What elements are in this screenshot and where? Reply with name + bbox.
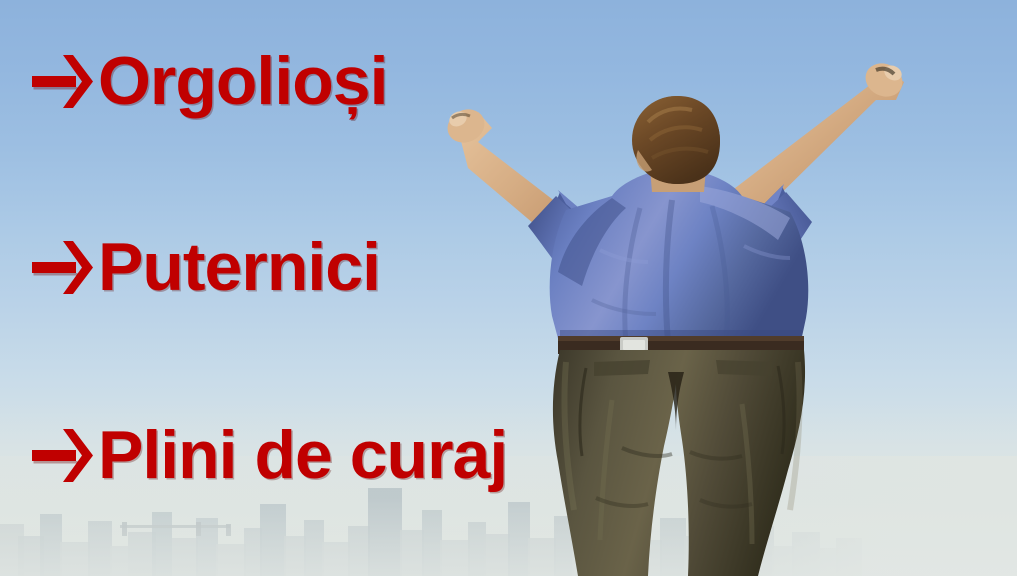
- rightwards-arrow-icon: [30, 48, 96, 114]
- rightwards-arrow-icon: [30, 234, 96, 300]
- rightwards-arrow-icon: [30, 422, 96, 488]
- bullet-item-3: Plini de curaj: [30, 416, 507, 494]
- bullet-item-1: Orgolioși: [30, 42, 387, 120]
- slide-canvas: Orgolioși Puternici: [0, 0, 1017, 576]
- bullet-label-2: Puternici: [98, 228, 380, 306]
- bullet-label-1: Orgolioși: [98, 42, 387, 120]
- bullet-label-3: Plini de curaj: [98, 416, 507, 494]
- bullet-item-2: Puternici: [30, 228, 380, 306]
